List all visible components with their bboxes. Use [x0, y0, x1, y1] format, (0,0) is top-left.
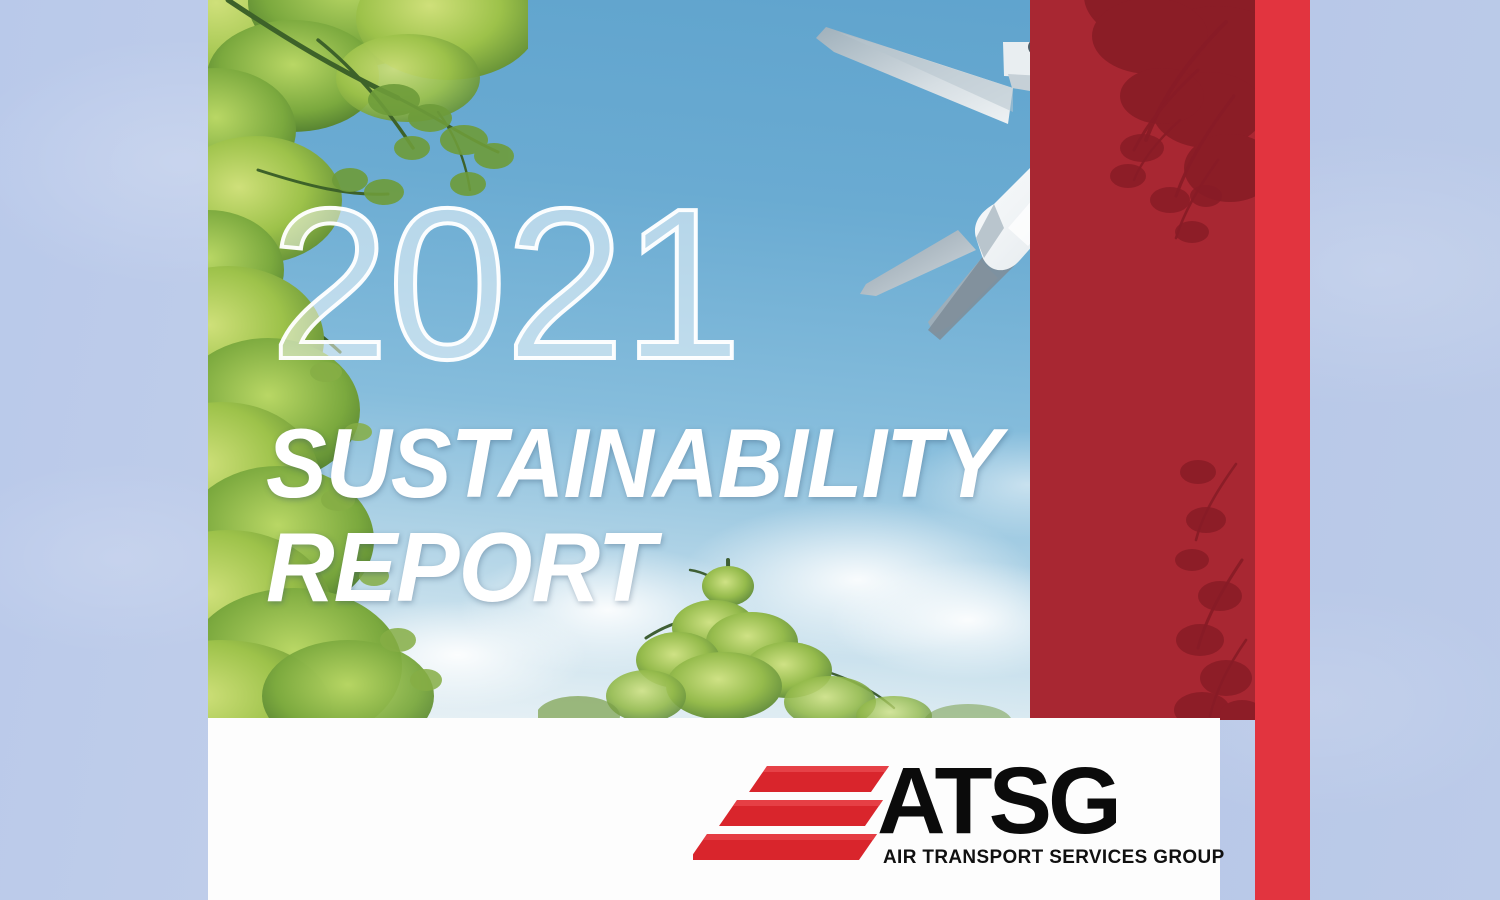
atsg-wordmark: ATSG: [877, 754, 1118, 849]
cover-year: 2021: [270, 176, 740, 391]
cover-title-line1: SUSTAINABILITY: [266, 418, 1310, 508]
red-band-bright: [1255, 0, 1310, 900]
atsg-tagline: AIR TRANSPORT SERVICES GROUP: [883, 846, 1225, 869]
cover-title-line2: REPORT: [266, 522, 1310, 612]
cover-footer-panel: ATSG AIR TRANSPORT SERVICES GROUP: [208, 718, 1220, 900]
atsg-logo: ATSG AIR TRANSPORT SERVICES GROUP: [693, 760, 1173, 878]
cover-title-block: SUSTAINABILITY REPORT: [266, 418, 1310, 612]
report-cover: 2021 SUSTAINABILITY REPORT: [208, 0, 1310, 900]
atsg-chevron-stripes-icon: [693, 762, 893, 862]
screenshot-canvas: 2021 SUSTAINABILITY REPORT: [0, 0, 1500, 900]
cover-photograph: 2021 SUSTAINABILITY REPORT: [208, 0, 1310, 720]
